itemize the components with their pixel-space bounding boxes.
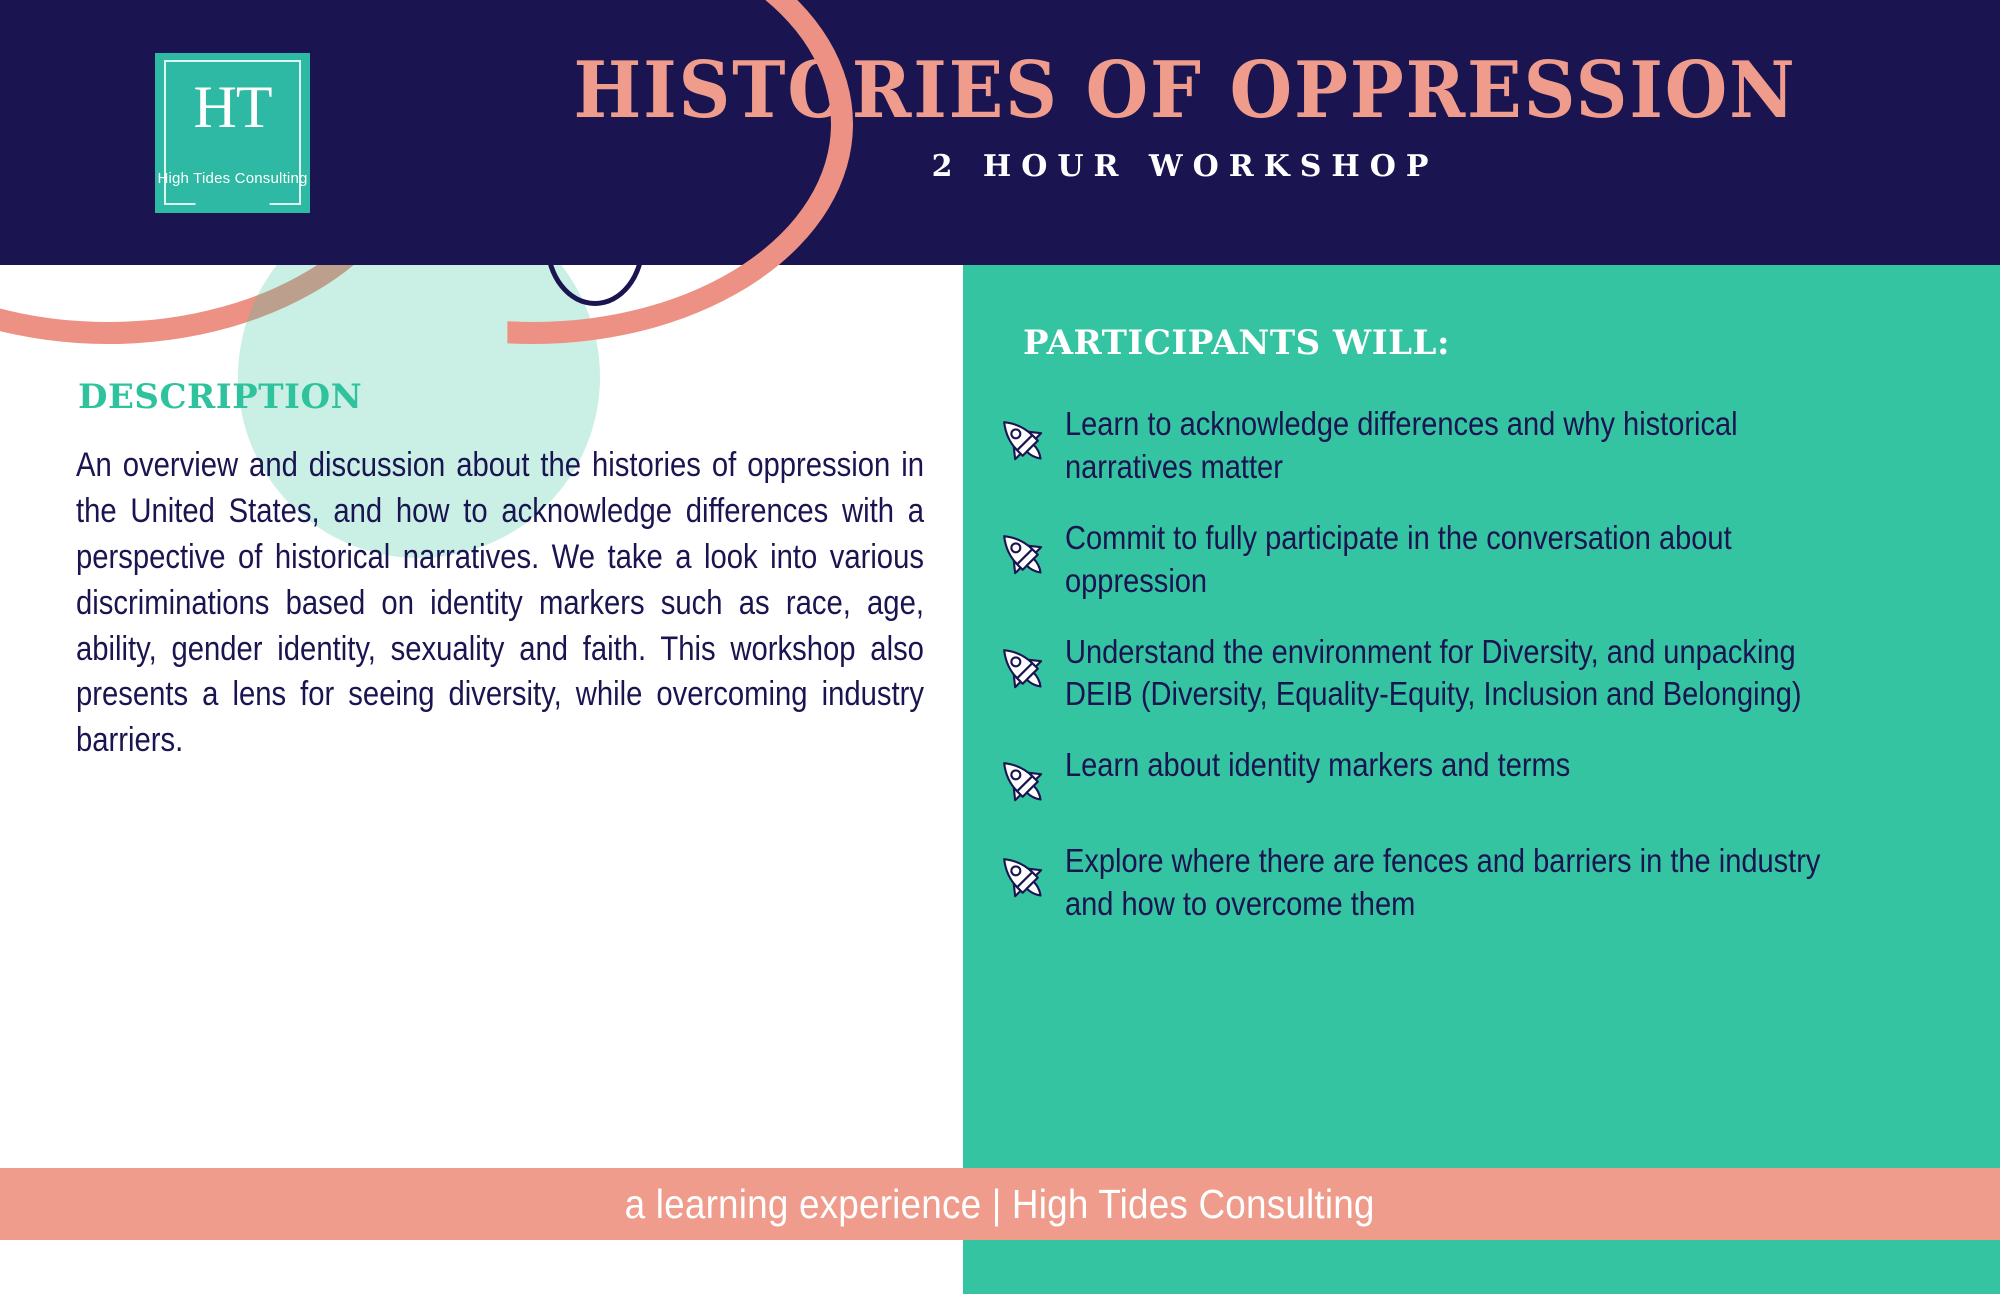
list-item-text: Understand the environment for Diversity… — [1065, 631, 1867, 717]
poster-header: HT High Tides Consulting HISTORIES OF OP… — [0, 0, 2000, 265]
footer-banner: a learning experience | High Tides Consu… — [0, 1168, 2000, 1240]
description-body: An overview and discussion about the his… — [76, 443, 924, 764]
participants-heading: PARTICIPANTS WILL: — [1023, 323, 1450, 363]
list-item-text: Commit to fully participate in the conve… — [1065, 517, 1867, 603]
rocket-icon — [991, 523, 1053, 585]
logo: HT High Tides Consulting — [155, 53, 310, 213]
footer-text: a learning experience | High Tides Consu… — [625, 1184, 1375, 1225]
list-item: Understand the environment for Diversity… — [991, 631, 1976, 717]
description-panel: DESCRIPTION An overview and discussion a… — [0, 265, 963, 1294]
rocket-icon — [991, 750, 1053, 812]
logo-monogram: HT — [155, 77, 310, 137]
rocket-icon — [991, 637, 1053, 699]
list-item-text: Learn about identity markers and terms — [1065, 744, 1867, 787]
list-item-text: Learn to acknowledge differences and why… — [1065, 403, 1867, 489]
participants-panel: PARTICIPANTS WILL: Learn — [963, 265, 2000, 1294]
list-item: Learn to acknowledge differences and why… — [991, 403, 1976, 489]
logo-company-name: High Tides Consulting — [155, 170, 310, 187]
workshop-poster: HT High Tides Consulting HISTORIES OF OP… — [0, 0, 2000, 1294]
list-item: Commit to fully participate in the conve… — [991, 517, 1976, 603]
list-item: Learn about identity markers and terms — [991, 744, 1976, 812]
rocket-icon — [991, 409, 1053, 471]
participants-list: Learn to acknowledge differences and why… — [991, 403, 1976, 954]
rocket-icon — [991, 846, 1053, 908]
list-item: Explore where there are fences and barri… — [991, 840, 1976, 926]
description-heading: DESCRIPTION — [78, 377, 362, 417]
list-item-text: Explore where there are fences and barri… — [1065, 840, 1867, 926]
